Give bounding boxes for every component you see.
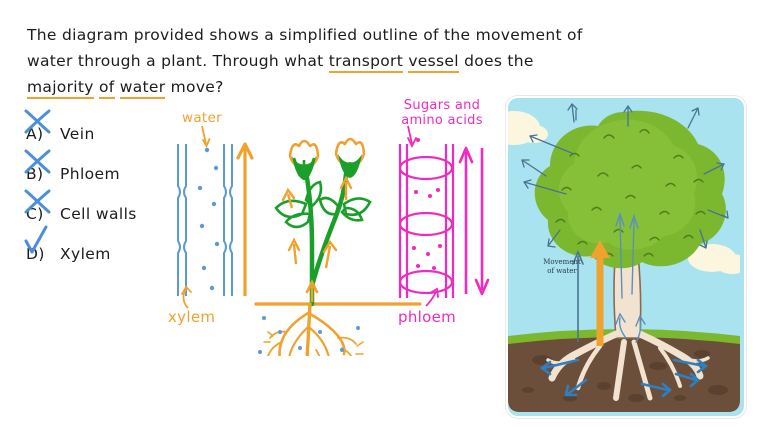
tree-drawing [508, 98, 740, 412]
phloem-vessel-drawing [400, 126, 488, 306]
worksheet-page: The diagram provided shows a simplified … [0, 0, 760, 427]
option-c-letter: C) [26, 205, 52, 223]
question-line-2-part-c: does the [459, 52, 534, 70]
option-c[interactable]: C) Cell walls [26, 194, 137, 234]
question-line-3-part-d: move? [165, 78, 223, 96]
question-line-2-part-a: water through a plant. Through what [27, 52, 329, 70]
caption-line-1: Movement [530, 258, 594, 267]
sugars-and-amino-acids-label: Sugars and amino acids [382, 98, 502, 128]
underlined-vessel: vessel [408, 52, 459, 73]
plant-drawing [256, 139, 420, 356]
xylem-vessel-drawing [178, 126, 252, 308]
option-c-label: Cell walls [60, 205, 137, 223]
option-b-letter: B) [26, 165, 52, 183]
xylem-phloem-diagram: water xylem phloem Sugars and amino acid… [160, 96, 500, 356]
underlined-transport: transport [329, 52, 403, 73]
caption-line-2: of water [530, 267, 594, 276]
underlined-of: of [99, 78, 115, 99]
option-a[interactable]: A) Vein [26, 114, 137, 154]
question-line-1: The diagram provided shows a simplified … [27, 22, 547, 48]
question-line-2: water through a plant. Through what tran… [27, 48, 547, 74]
underlined-majority: majority [27, 78, 94, 99]
option-d[interactable]: D) Xylem [26, 234, 137, 274]
option-b[interactable]: B) Phloem [26, 154, 137, 194]
option-d-label: Xylem [60, 245, 111, 263]
underlined-water: water [120, 78, 166, 99]
option-a-label: Vein [60, 125, 95, 143]
option-b-label: Phloem [60, 165, 120, 183]
answer-options-list: A) Vein B) Phloem C) Cell walls D) [26, 114, 137, 274]
xylem-label: xylem [168, 308, 215, 326]
question-text: The diagram provided shows a simplified … [27, 22, 547, 100]
movement-of-water-caption: Movement of water [530, 258, 594, 276]
question-line-3-gap-2 [115, 78, 120, 96]
option-d-letter: D) [26, 245, 52, 263]
water-label: water [182, 110, 222, 126]
phloem-label: phloem [398, 308, 456, 326]
option-a-letter: A) [26, 125, 52, 143]
tree-illustration-panel: Movement of water [506, 96, 746, 418]
